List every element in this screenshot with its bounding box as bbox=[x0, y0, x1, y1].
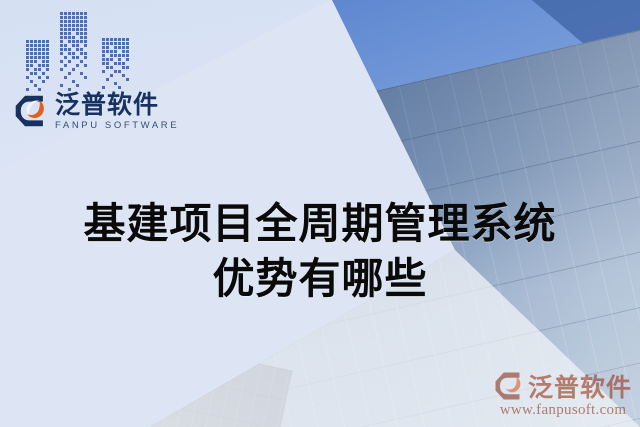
watermark: 泛普软件 www.fanpusoft.com bbox=[494, 368, 632, 419]
fanpu-hexagon-swoosh-icon bbox=[494, 371, 524, 401]
fanpu-hexagon-swoosh-icon bbox=[14, 94, 48, 128]
promo-banner: 泛普软件 FANPU SOFTWARE 基建项目全周期管理系统 优势有哪些 泛普… bbox=[0, 0, 640, 427]
dot-matrix-skyline-icon bbox=[26, 12, 138, 92]
watermark-logo-row: 泛普软件 bbox=[494, 368, 632, 404]
fanpu-logo-name-cn: 泛普软件 bbox=[55, 92, 179, 117]
watermark-name-cn: 泛普软件 bbox=[528, 368, 632, 404]
watermark-url: www.fanpusoft.com bbox=[500, 402, 627, 419]
page-title: 基建项目全周期管理系统 优势有哪些 bbox=[0, 196, 640, 307]
page-title-line-1: 基建项目全周期管理系统 bbox=[0, 196, 640, 251]
page-title-line-2: 优势有哪些 bbox=[0, 251, 640, 306]
fanpu-logo-text: 泛普软件 FANPU SOFTWARE bbox=[55, 92, 179, 131]
fanpu-logo-name-en: FANPU SOFTWARE bbox=[55, 121, 179, 131]
fanpu-logo: 泛普软件 FANPU SOFTWARE bbox=[14, 92, 179, 131]
